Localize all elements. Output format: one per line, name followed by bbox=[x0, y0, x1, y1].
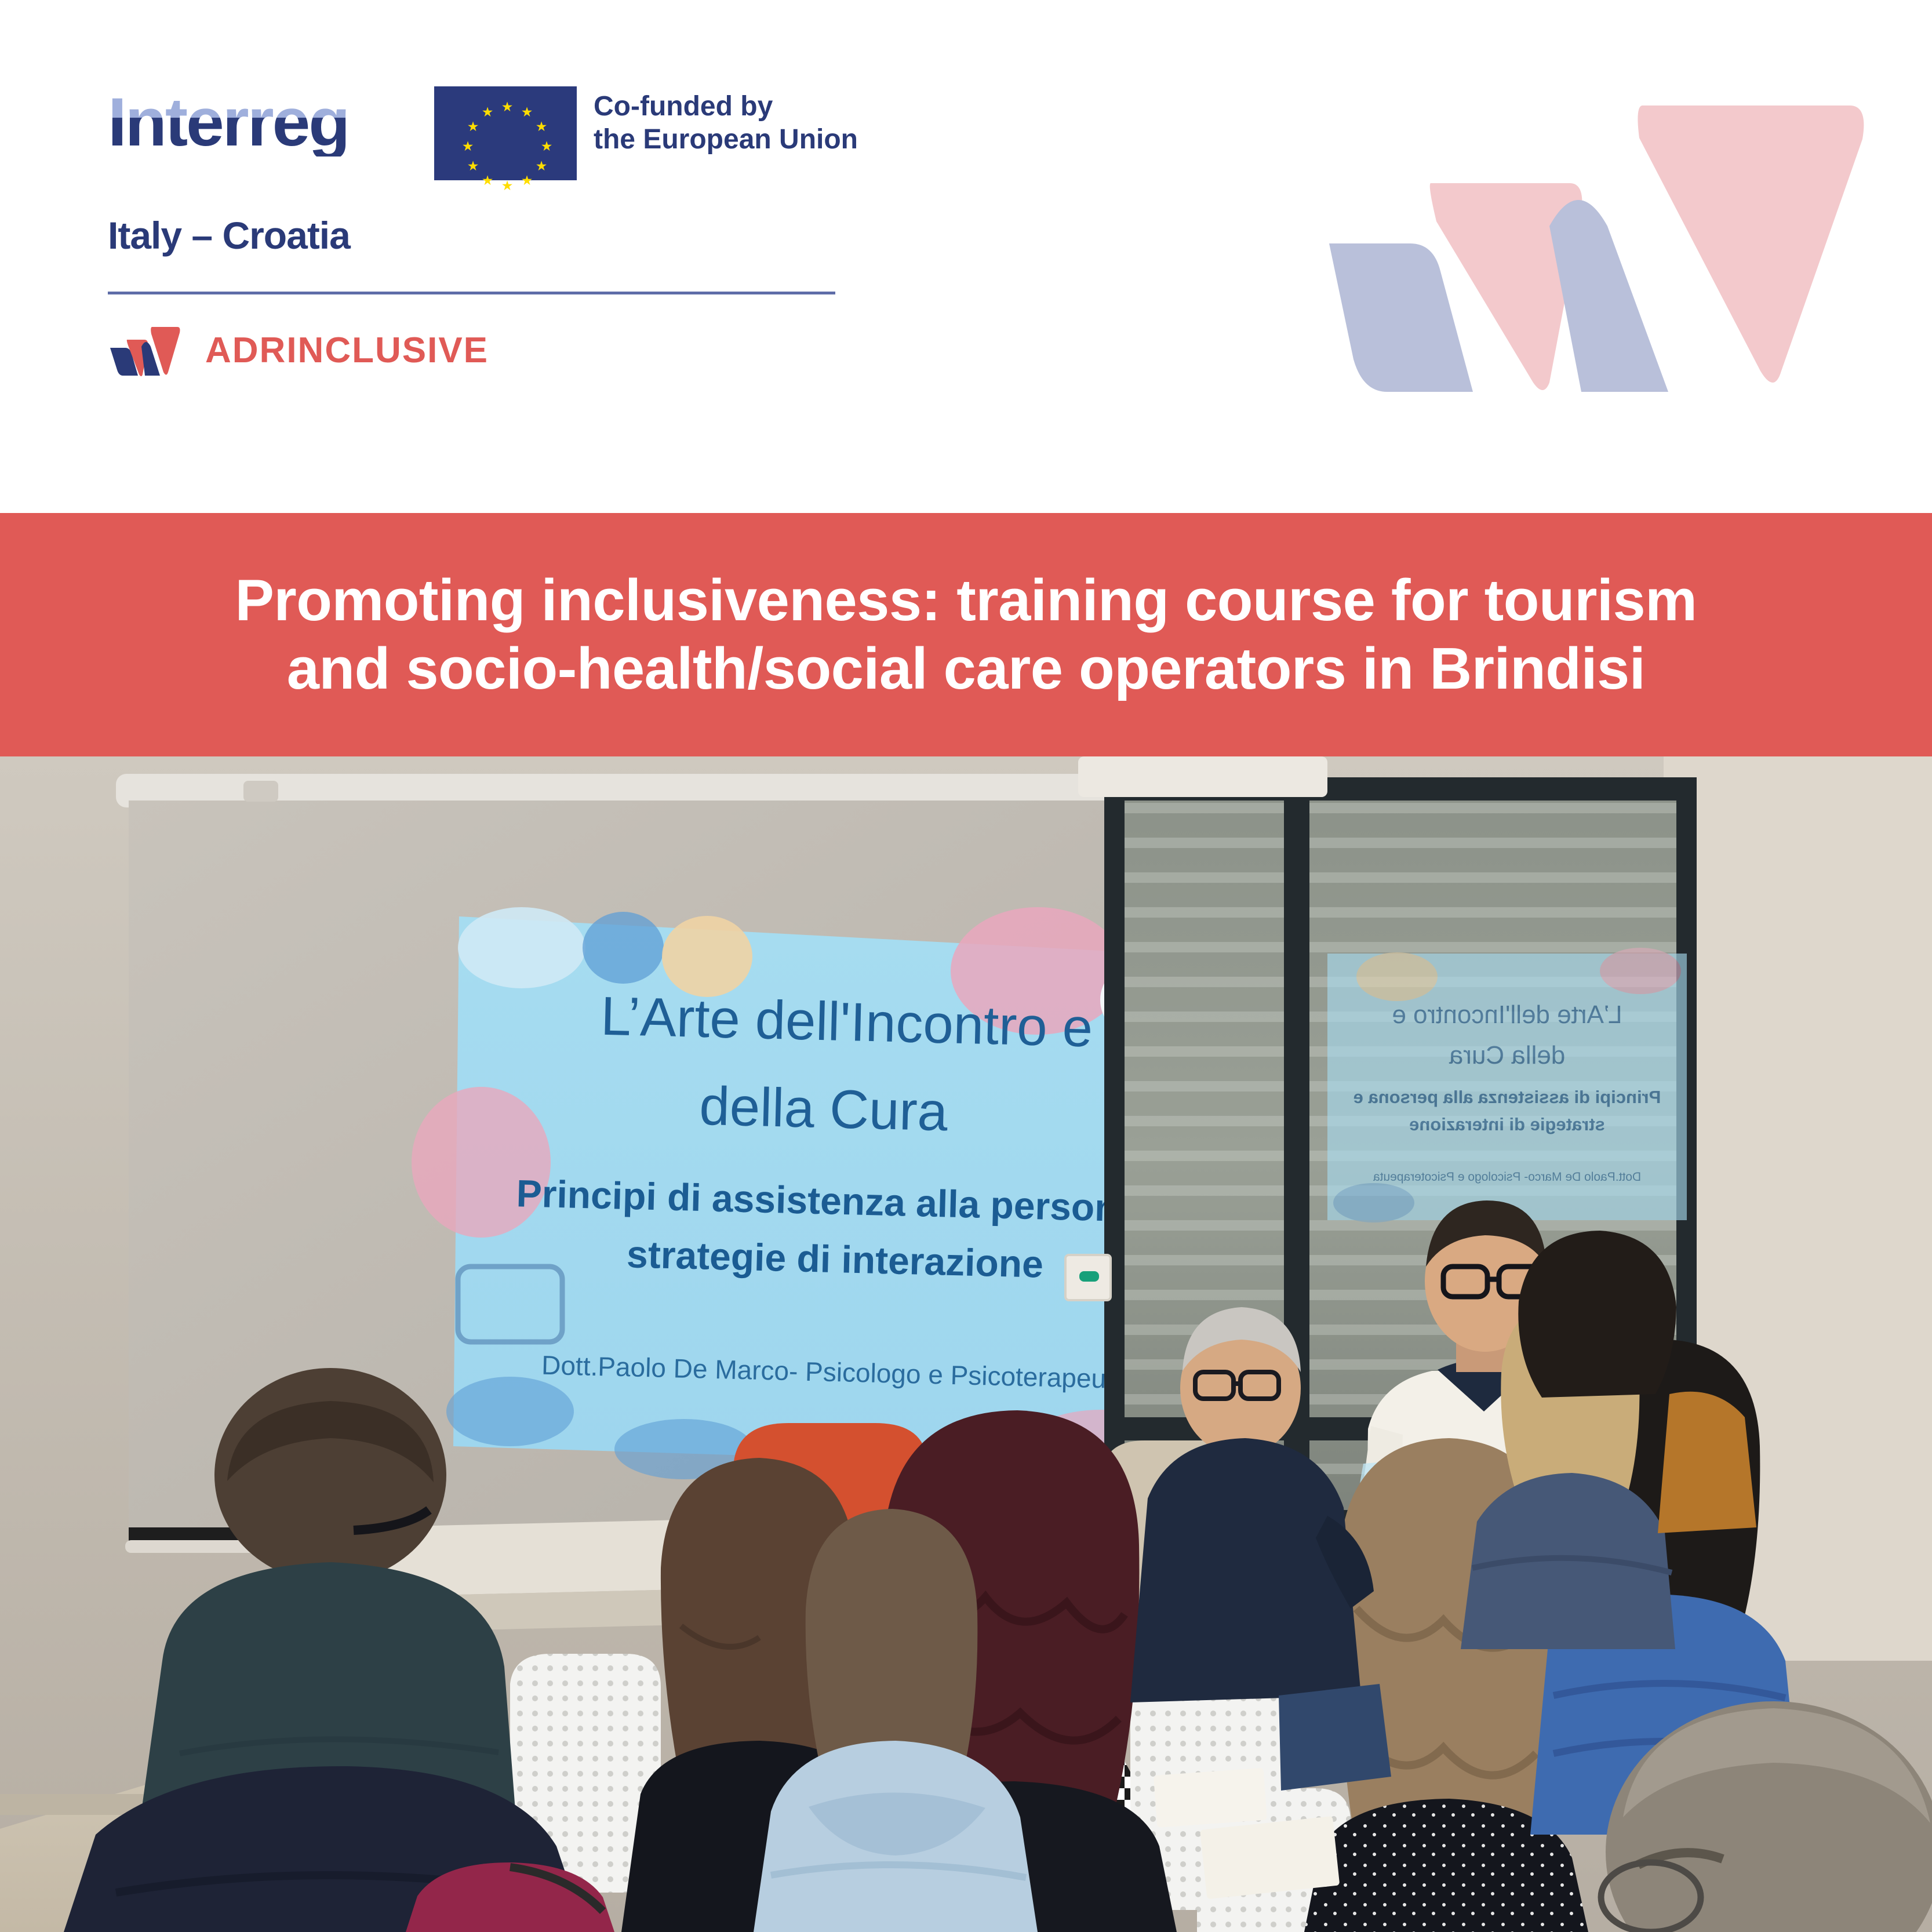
logo-cluster: Interreg ★ ★ ★ ★ ★ ★ ★ ★ ★ ★ ★ ★ Co-fund… bbox=[108, 88, 348, 157]
title-line-2: and socio-health/social care operators i… bbox=[103, 635, 1830, 703]
programme-name: Italy – Croatia bbox=[108, 213, 350, 257]
event-photo-illustration: L’Arte dell'Incontro e della Cura Princi… bbox=[0, 756, 1932, 1932]
project-logo: ADRINCLUSIVE bbox=[108, 322, 489, 378]
header-divider bbox=[108, 292, 835, 294]
adrinclusive-mark-icon bbox=[108, 322, 182, 378]
svg-text:L’Arte dell'Incontro e: L’Arte dell'Incontro e bbox=[600, 985, 1093, 1058]
header-bar: Interreg ★ ★ ★ ★ ★ ★ ★ ★ ★ ★ ★ ★ Co-fund… bbox=[0, 0, 1932, 513]
svg-text:della Cura: della Cura bbox=[698, 1075, 949, 1142]
cofunded-line-2: the European Union bbox=[594, 123, 858, 157]
eu-emblem-block: ★ ★ ★ ★ ★ ★ ★ ★ ★ ★ ★ ★ Co-funded by the… bbox=[432, 85, 858, 182]
adrinclusive-watermark-icon bbox=[1318, 70, 1932, 394]
title-line-1: Promoting inclusiveness: training course… bbox=[235, 568, 1697, 633]
cofunded-line-1: Co-funded by bbox=[594, 85, 858, 123]
interreg-wordmark: Interreg bbox=[108, 88, 348, 157]
svg-text:Dott.Paolo De Marco- Psicologo: Dott.Paolo De Marco- Psicologo e Psicote… bbox=[1373, 1170, 1642, 1184]
svg-text:Principi di assistenza alla pe: Principi di assistenza alla persona e bbox=[1354, 1087, 1661, 1107]
eu-flag-icon: ★ ★ ★ ★ ★ ★ ★ ★ ★ ★ ★ ★ bbox=[432, 85, 578, 182]
event-photo: L’Arte dell'Incontro e della Cura Princi… bbox=[0, 756, 1932, 1932]
svg-text:strategie di interazione: strategie di interazione bbox=[1409, 1114, 1605, 1134]
title-banner: Promoting inclusiveness: training course… bbox=[0, 513, 1932, 756]
page-title: Promoting inclusiveness: training course… bbox=[103, 566, 1830, 703]
project-name-label: ADRINCLUSIVE bbox=[205, 330, 489, 371]
interreg-logo: Interreg bbox=[108, 88, 348, 157]
svg-text:della Cura: della Cura bbox=[1449, 1041, 1565, 1069]
cofunded-text: Co-funded by the European Union bbox=[594, 85, 858, 156]
svg-text:L’Arte dell'Incontro e: L’Arte dell'Incontro e bbox=[1392, 1000, 1622, 1029]
